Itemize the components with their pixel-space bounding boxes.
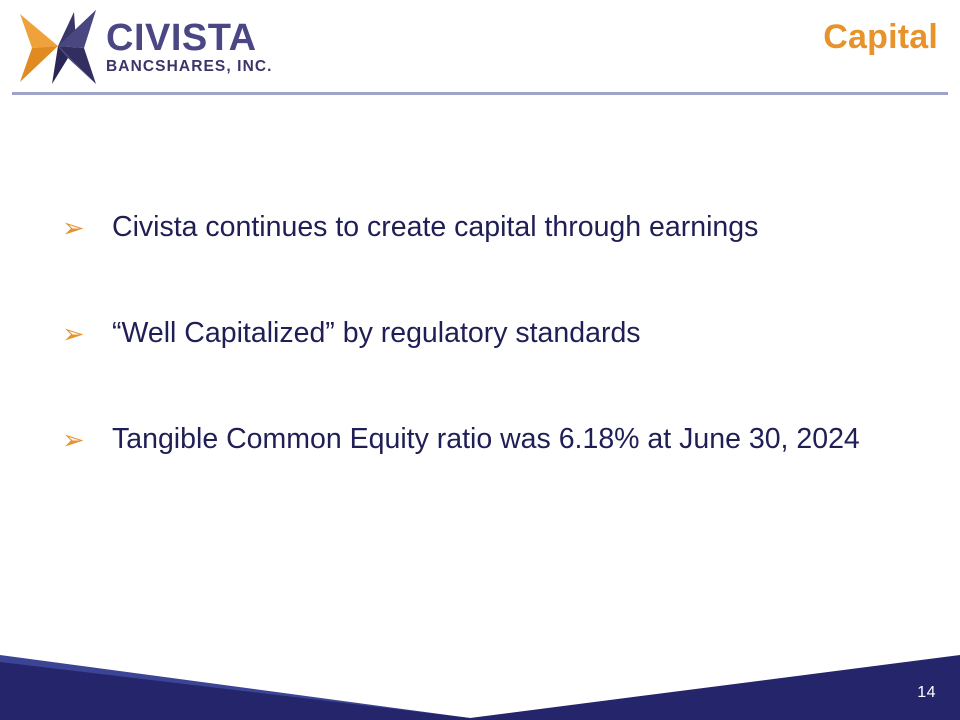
list-item: ➢ Civista continues to create capital th… [0, 200, 960, 306]
bullet-text: “Well Capitalized” by regulatory standar… [112, 314, 641, 352]
bullet-list: ➢ Civista continues to create capital th… [0, 200, 960, 518]
slide-header: CIVISTA BANCSHARES, INC. Capital [0, 0, 960, 100]
slide-footer: 14 [0, 630, 960, 720]
list-item: ➢ Tangible Common Equity ratio was 6.18%… [0, 412, 960, 518]
page-title: Capital [823, 18, 938, 57]
civista-star-icon [12, 8, 104, 88]
bullet-text: Civista continues to create capital thro… [112, 208, 758, 246]
footer-decoration [0, 630, 960, 720]
civista-wordmark: CIVISTA BANCSHARES, INC. [106, 18, 262, 80]
arrow-bullet-icon: ➢ [62, 212, 96, 246]
arrow-bullet-icon: ➢ [62, 424, 96, 458]
header-divider [12, 92, 948, 95]
page-number: 14 [917, 684, 936, 702]
civista-logo: CIVISTA BANCSHARES, INC. [12, 6, 262, 88]
wordmark-bancshares: BANCSHARES, INC. [106, 58, 262, 76]
arrow-bullet-icon: ➢ [62, 318, 96, 352]
wordmark-civista: CIVISTA [106, 18, 262, 58]
slide: CIVISTA BANCSHARES, INC. Capital ➢ Civis… [0, 0, 960, 720]
list-item: ➢ “Well Capitalized” by regulatory stand… [0, 306, 960, 412]
bullet-text: Tangible Common Equity ratio was 6.18% a… [112, 420, 860, 458]
